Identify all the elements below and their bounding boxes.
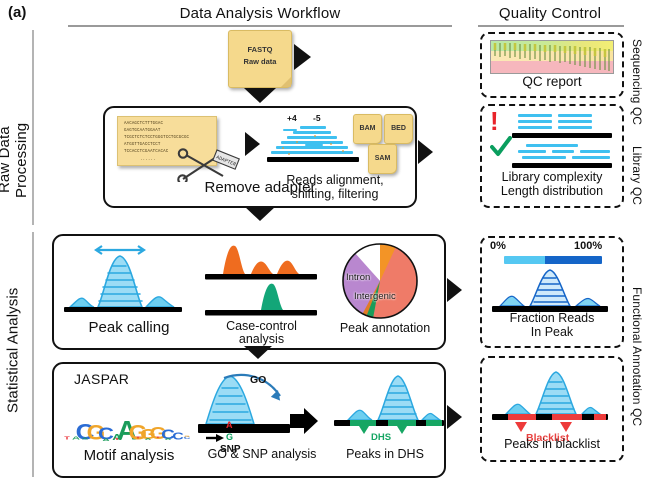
side-label-functional-annotation-qc: Functional Annotation QC [626,238,648,476]
raw-processing-box: AACAGCTCTTTGGAC GAGTGCAATGGAAT TCGCTCTCT… [103,106,417,208]
statistical-row2-box: JASPAR T A C A G C A A T A G T G A G T C… [52,362,446,478]
frip-peak-graphic [490,266,612,314]
row-divider-bottom [32,232,34,477]
case-control-graphic [199,242,324,316]
side-label-sequencing-qc: Sequencing QC [626,30,648,135]
bam-file-icon: BAM [353,114,382,144]
go-snp-caption: GO & SNP analysis [182,448,342,461]
sequence-line: ATGGTTGACCTCCT [124,143,161,147]
svg-text:T: T [64,435,70,441]
library-complexity-caption-1: Library complexity [482,171,622,184]
exclamation-icon: ! [490,108,499,134]
bed-label: BED [385,124,412,133]
column-title-workflow: Data Analysis Workflow [60,3,460,23]
flow-arrow-right-4 [447,278,462,302]
frip-gradient-bar [504,256,602,264]
reads-alignment-caption-1: Reads alignment, [255,174,415,187]
flow-arrow-right-5 [447,405,462,429]
figure-letter: (a) [8,4,26,21]
scissors-icon: ADAPTER [177,146,243,182]
sequence-line: TCGCTCTCTCCTGGGTCCTGCGCGC [124,136,189,140]
statistical-row1-box: Peak calling Case-control analysis [52,234,446,350]
peaks-in-dhs-caption: Peaks in DHS [324,448,446,461]
read-dots [267,124,361,158]
figure-panel-a: (a) Data Analysis Workflow Quality Contr… [0,0,662,481]
sequence-line: GAGTGCAATGGAAT [124,129,161,133]
flow-arrow-right-2 [245,132,260,156]
library-complexity-box: ! Library complexity Length distribution [480,104,624,208]
shift-minus-label: -5 [313,113,321,123]
fastq-fold-icon [229,31,291,87]
pie-label-intron: Intron [346,272,370,283]
reads-alignment-caption-2: shifting, filtering [255,188,415,201]
sequence-line: ...... [140,158,156,162]
frip-scale-min: 0% [490,240,506,252]
column-title-qc: Quality Control [470,3,630,23]
case-control-caption-1: Case-control [194,320,329,333]
blacklist-marker-left [515,422,527,432]
snp-alt-allele: G [226,432,233,442]
case-control-caption-2: analysis [194,333,329,346]
sam-file-icon: SAM [368,144,397,174]
peak-annotation-caption: Peak annotation [326,322,444,335]
sam-label: SAM [369,154,396,163]
row-label-raw-data-processing: Raw Data Processing [2,95,24,225]
dhs-marker-right [397,426,407,434]
flow-arrow-down-2 [244,206,276,221]
frip-caption-1: Fraction Reads [482,312,622,325]
bed-file-icon: BED [384,114,413,144]
library-complexity-caption-2: Length distribution [482,185,622,198]
fastq-file-icon: FASTQ Raw data [228,30,292,88]
row-divider-top [32,30,34,225]
blacklist-peak-graphic [490,370,612,424]
frip-caption-2: In Peak [482,326,622,339]
jaspar-database-label: JASPAR [74,371,129,387]
svg-text:A: A [165,438,172,441]
side-label-library-qc: Library QC [626,128,648,223]
blacklist-caption: Peaks in blacklist [482,438,622,451]
qc-report-caption: QC report [482,75,622,89]
flow-arrow-right-1 [294,44,311,70]
peak-calling-caption: Peak calling [54,320,204,335]
qc-title-rule [478,25,624,27]
dhs-marker-left [359,426,369,434]
workflow-title-rule [68,25,452,27]
qc-report-chart [490,40,614,74]
peak-calling-graphic [62,244,192,316]
flow-arrow-down-3 [244,346,272,359]
flow-arrow-right-3 [418,140,433,164]
svg-text:G: G [184,436,189,438]
pie-label-intergenic: Intergenic [354,291,396,302]
blacklist-box: Blacklist Peaks in blacklist [480,356,624,462]
svg-text:A: A [102,438,110,442]
svg-text:C: C [172,431,184,442]
frip-box: 0% 100% Fraction Reads In Peak [480,236,624,348]
dhs-track-label: DHS [371,432,391,443]
sequence-logo-graphic: T A C A G C A A T A G T G A G T C A C C [60,392,195,444]
snp-ref-allele: A [226,420,233,430]
peaks-in-dhs-graphic [330,372,448,438]
go-label: GO [250,374,266,386]
sequence-line: AACAGCTCTTTGGAC [124,122,163,126]
sequence-line: TCCACCTCGAATCACAC [124,150,168,154]
blacklist-marker-right [560,422,572,432]
frip-scale-max: 100% [574,240,602,252]
qc-report-box: QC report [480,32,624,98]
shift-plus-label: +4 [287,113,297,123]
row-label-statistical-analysis: Statistical Analysis [2,250,24,450]
bam-label: BAM [354,124,381,133]
flow-arrow-down-1 [244,88,276,103]
check-icon [490,136,512,158]
